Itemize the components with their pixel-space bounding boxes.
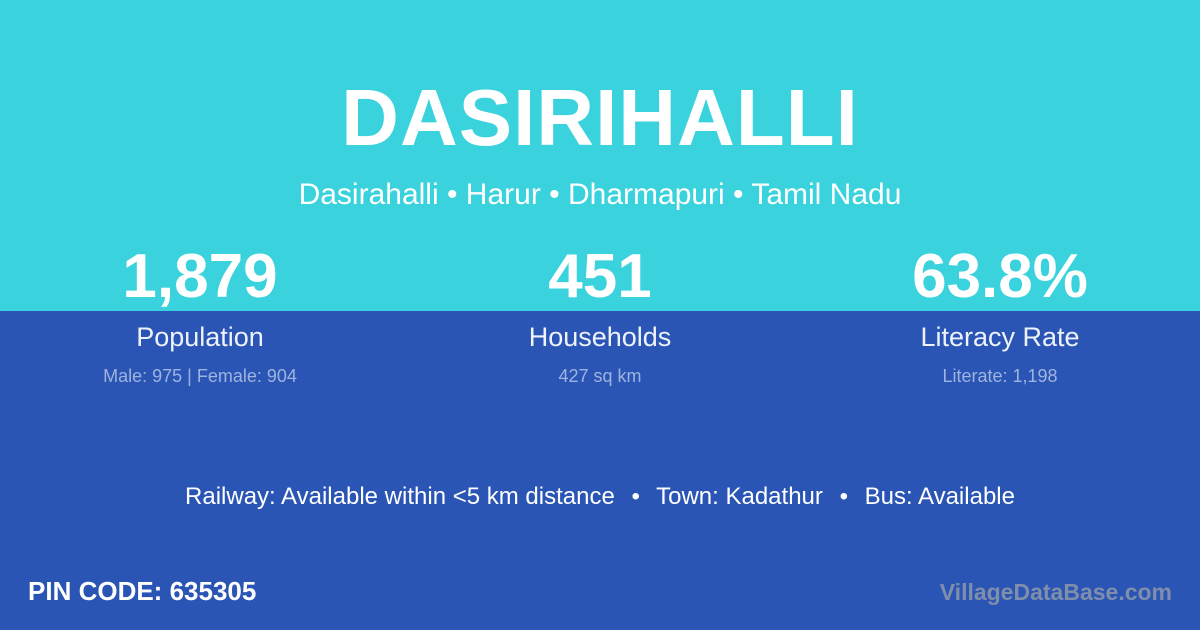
- card-header: DASIRIHALLI Dasirahalli • Harur • Dharma…: [0, 0, 1200, 210]
- page-title: DASIRIHALLI: [0, 78, 1200, 158]
- stat-card-literacy: 63.8% Literacy Rate Literate: 1,198: [800, 246, 1200, 385]
- stat-value-households: 451: [400, 246, 800, 308]
- stat-card-population: 1,879 Population Male: 975 | Female: 904: [0, 246, 400, 385]
- amenity-town: Town: Kadathur: [656, 483, 823, 510]
- amenity-separator-1: •: [621, 485, 649, 509]
- stat-card-households: 451 Households 427 sq km: [400, 246, 800, 385]
- amenity-railway: Railway: Available within <5 km distance: [185, 483, 615, 510]
- site-watermark: VillageDataBase.com: [940, 581, 1172, 604]
- amenity-bus: Bus: Available: [865, 483, 1015, 510]
- pin-code-label: PIN CODE: 635305: [28, 578, 256, 604]
- stat-label-population: Population: [0, 324, 400, 351]
- stat-value-literacy: 63.8%: [800, 246, 1200, 308]
- stat-sub-population: Male: 975 | Female: 904: [0, 367, 400, 385]
- stat-label-literacy: Literacy Rate: [800, 324, 1200, 351]
- stat-label-households: Households: [400, 324, 800, 351]
- stat-sub-literacy: Literate: 1,198: [800, 367, 1200, 385]
- card-footer: PIN CODE: 635305 VillageDataBase.com: [0, 560, 1200, 630]
- village-info-card: DASIRIHALLI Dasirahalli • Harur • Dharma…: [0, 0, 1200, 630]
- breadcrumb: Dasirahalli • Harur • Dharmapuri • Tamil…: [0, 180, 1200, 210]
- statistics-row: 1,879 Population Male: 975 | Female: 904…: [0, 246, 1200, 385]
- stat-value-population: 1,879: [0, 246, 400, 308]
- stat-sub-households: 427 sq km: [400, 367, 800, 385]
- amenity-separator-2: •: [830, 485, 858, 509]
- amenities-line: Railway: Available within <5 km distance…: [0, 485, 1200, 509]
